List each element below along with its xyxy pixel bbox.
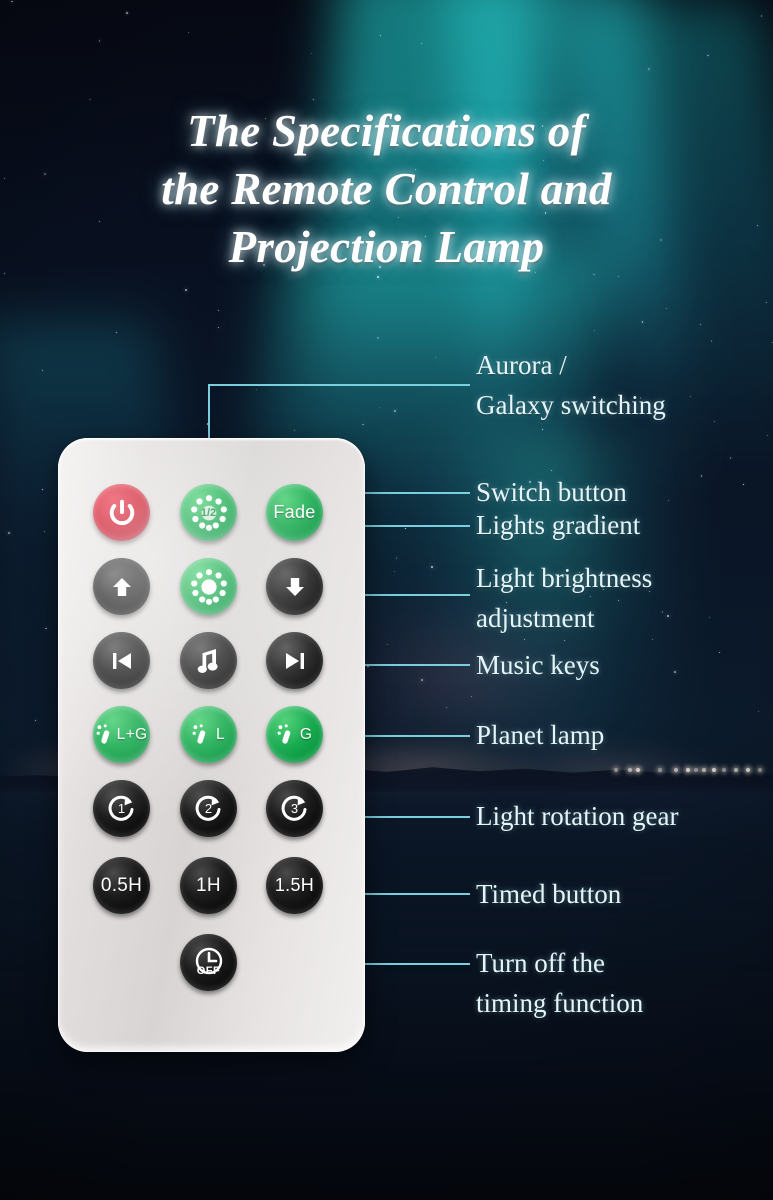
remote-control-body: 1/2 Fade [58,438,365,1052]
timer-off-label: OFF [190,965,228,977]
dotted-ring-icon: 1/2 [189,493,229,533]
page-title-line-3: Projection Lamp [0,218,773,276]
annotation-aurora-galaxy: Aurora / Galaxy switching [476,345,666,425]
rotation-speed-1-label: 1 [105,792,139,826]
power-button[interactable] [93,484,150,541]
dotted-ring-icon [189,567,229,607]
rotation-speed-3-button[interactable]: 3 [266,780,323,837]
annotation-light-brightness-line1: Light brightness [476,558,652,598]
timer-one-hour-label: 1H [196,875,221,897]
fade-button-label: Fade [273,502,315,523]
annotation-turn-off-timing-line2: timing function [476,983,643,1023]
page-title-line-2: the Remote Control and [0,160,773,218]
page-title: The Specifications of the Remote Control… [0,102,773,276]
music-note-icon [196,647,222,675]
rotation-speed-3-label: 3 [278,792,312,826]
distant-shore-lights [612,766,772,776]
previous-track-button[interactable] [93,632,150,689]
next-track-button[interactable] [266,632,323,689]
magic-wand-icon [192,724,211,746]
magic-wand-icon [96,724,115,746]
fade-button[interactable]: Fade [266,484,323,541]
brightness-up-button[interactable] [93,558,150,615]
annotation-lights-gradient-line1: Lights gradient [476,505,640,545]
annotation-timed-button: Timed button [476,874,621,914]
rotation-speed-2-button[interactable]: 2 [180,780,237,837]
planet-lamp-g-label: G [300,726,312,744]
annotation-lights-gradient: Lights gradient [476,505,640,545]
annotation-turn-off-timing: Turn off the timing function [476,943,643,1023]
annotation-timed-button-line1: Timed button [476,874,621,914]
rotate-icon: 1 [105,792,139,826]
planet-lamp-lg-button[interactable]: L+G [93,706,150,763]
magic-wand-icon [277,724,296,746]
rotation-speed-2-label: 2 [192,792,226,826]
annotation-aurora-galaxy-line1: Aurora / [476,345,666,385]
timer-one-and-half-hour-label: 1.5H [275,875,314,896]
timer-off-button[interactable]: OFF [180,934,237,991]
rotate-icon: 3 [278,792,312,826]
annotation-light-brightness: Light brightness adjustment [476,558,652,638]
annotation-planet-lamp: Planet lamp [476,715,604,755]
clock-off-icon: OFF [190,944,228,982]
annotation-light-rotation-gear-line1: Light rotation gear [476,796,678,836]
aurora-galaxy-button[interactable]: 1/2 [180,484,237,541]
planet-lamp-g-button[interactable]: G [266,706,323,763]
annotation-turn-off-timing-line1: Turn off the [476,943,643,983]
planet-lamp-l-button[interactable]: L [180,706,237,763]
planet-lamp-lg-label: L+G [117,726,148,744]
rotation-speed-1-button[interactable]: 1 [93,780,150,837]
timer-half-hour-label: 0.5H [101,875,142,897]
timer-one-and-half-hour-button[interactable]: 1.5H [266,857,323,914]
rotate-icon: 2 [192,792,226,826]
infographic-page: The Specifications of the Remote Control… [0,0,773,1200]
page-title-line-1: The Specifications of [0,102,773,160]
annotation-light-rotation-gear: Light rotation gear [476,796,678,836]
annotation-planet-lamp-line1: Planet lamp [476,715,604,755]
planet-lamp-l-label: L [216,726,225,744]
annotation-music-keys-line1: Music keys [476,645,600,685]
brightness-down-button[interactable] [266,558,323,615]
annotation-music-keys: Music keys [476,645,600,685]
lights-gradient-button[interactable] [180,558,237,615]
aurora-galaxy-button-label: 1/2 [189,493,229,533]
next-icon [282,648,308,674]
music-button[interactable] [180,632,237,689]
arrow-down-icon [283,575,307,599]
power-icon [107,498,137,528]
annotation-light-brightness-line2: adjustment [476,598,652,638]
annotation-aurora-galaxy-line2: Galaxy switching [476,385,666,425]
leader-aurora-horizontal [208,384,470,386]
timer-half-hour-button[interactable]: 0.5H [93,857,150,914]
previous-icon [109,648,135,674]
timer-one-hour-button[interactable]: 1H [180,857,237,914]
arrow-up-icon [110,575,134,599]
